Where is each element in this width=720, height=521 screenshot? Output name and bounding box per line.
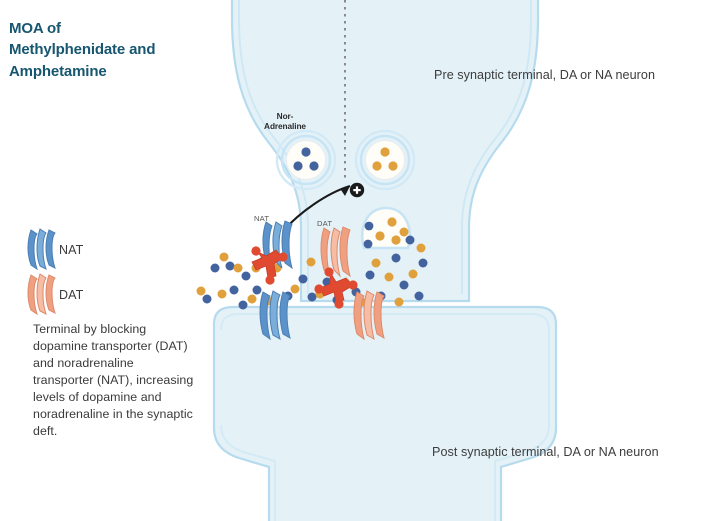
- title-line-1: MOA of: [9, 20, 61, 37]
- dat-transporter-tag: DAT: [317, 219, 332, 228]
- dat-transporter-icon: [28, 274, 55, 314]
- description-text: Terminal by blocking dopamine transporte…: [33, 321, 196, 440]
- plus-badge-icon: [350, 183, 364, 197]
- diagram-canvas: MOA of Methylphenidate and Amphetamine N…: [0, 0, 720, 521]
- page-title: MOA of Methylphenidate and Amphetamine: [9, 18, 224, 82]
- postsynaptic-terminal: [214, 307, 556, 521]
- postsynaptic-dat-transporter: [354, 291, 384, 339]
- legend-item-dat-label: DAT: [59, 288, 83, 302]
- vesicle-label-line-1: Nor-: [277, 111, 294, 121]
- postsynaptic-nat-transporter: [260, 291, 290, 339]
- vesicle-label-line-2: Adrenaline: [264, 121, 306, 131]
- noradrenaline-vesicle-label: Nor- Adrenaline: [262, 111, 308, 131]
- nat-transporter-tag: NAT: [254, 214, 269, 223]
- presynaptic-dat-transporter: [321, 227, 350, 276]
- title-line-3: Amphetamine: [9, 63, 107, 80]
- title-line-2: Methylphenidate and: [9, 41, 155, 58]
- nat-transporter-icon: [28, 229, 55, 269]
- legend-item-nat-label: NAT: [59, 243, 83, 257]
- postsynaptic-terminal-label: Post synaptic terminal, DA or NA neuron: [432, 445, 659, 459]
- presynaptic-terminal-label: Pre synaptic terminal, DA or NA neuron: [434, 68, 655, 82]
